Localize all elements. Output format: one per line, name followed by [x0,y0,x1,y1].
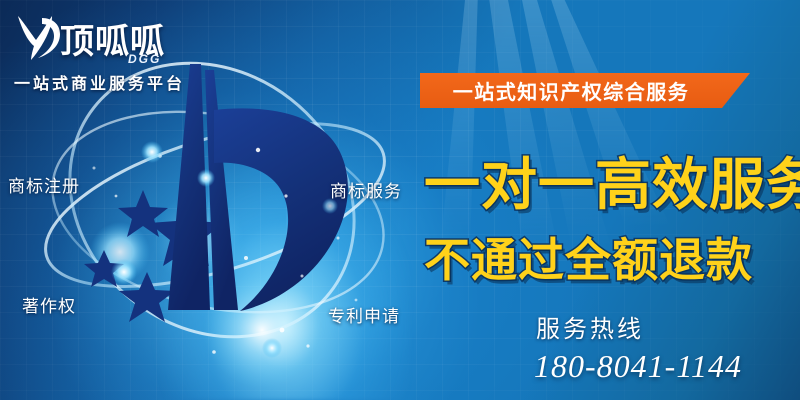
service-label-patent: 专利申请 [328,302,400,327]
brand-tagline: 一站式商业服务平台 [14,70,185,94]
promo-ribbon-text: 一站式知识产权综合服务 [420,73,722,108]
service-label-tm-serv: 商标服务 [330,177,402,202]
leaf-monogram-icon [12,12,66,64]
monogram-i [168,64,238,310]
brand-latin-name: DGG [128,52,161,66]
promo-ribbon: 一站式知识产权综合服务 [420,73,750,108]
service-label-copyright: 著作权 [22,292,76,317]
brand-logo[interactable]: 顶呱呱 DGG 一站式商业服务平台 [8,8,188,88]
promo-headline-secondary: 不通过全额退款 [424,224,753,290]
hotline-label: 服务热线 [536,309,644,344]
service-label-tm-reg: 商标注册 [8,172,80,197]
hotline-number[interactable]: 180-8041-1144 [534,348,742,385]
promotional-banner: 顶呱呱 DGG 一站式商业服务平台 商标注册 著作权 商标服务 专利申请 一站式… [0,0,800,400]
promo-headline-primary: 一对一高效服务 [424,140,800,221]
